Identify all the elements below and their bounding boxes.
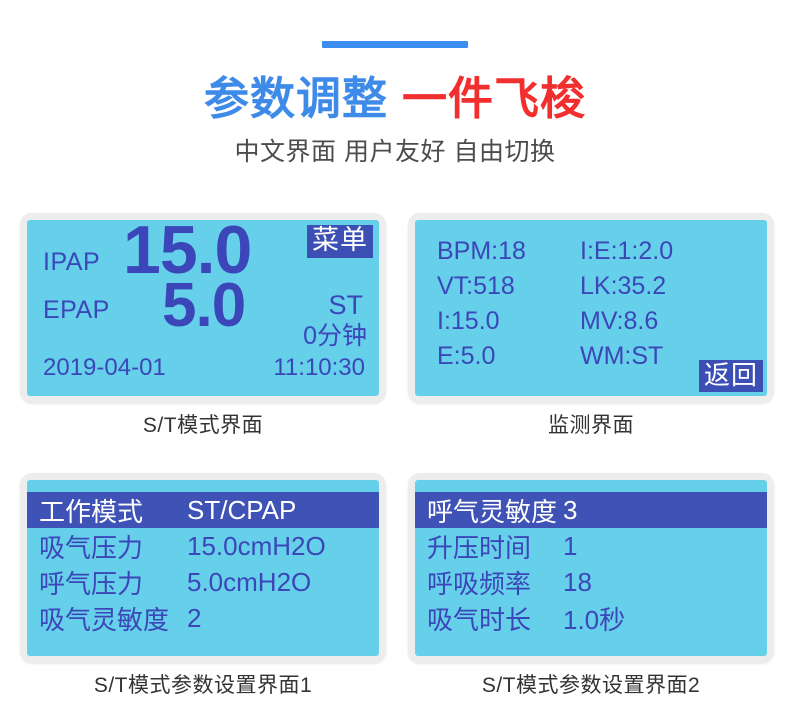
page-header: 参数调整一件飞梭 中文界面 用户友好 自由切换 xyxy=(0,0,790,165)
settings-value: 2 xyxy=(187,603,379,634)
epap-value: 5.0 xyxy=(162,275,245,337)
page-title-primary: 参数调整 xyxy=(204,73,388,124)
settings-value: 5.0cmH2O xyxy=(187,567,379,598)
lcd-screen-st-mode-home: IPAP 15.0 EPAP 5.0 菜单 ST 0分钟 2019-04-01 … xyxy=(27,220,379,396)
settings-value: 18 xyxy=(563,567,767,598)
settings-label: 呼气灵敏度 xyxy=(427,492,563,529)
back-button[interactable]: 返回 xyxy=(699,360,763,392)
settings-row[interactable]: 吸气时长 1.0秒 xyxy=(415,600,767,636)
epap-label: EPAP xyxy=(43,296,110,325)
settings-label: 吸气压力 xyxy=(39,528,187,565)
settings-label: 呼气压力 xyxy=(39,564,187,601)
panel-st-mode-home: IPAP 15.0 EPAP 5.0 菜单 ST 0分钟 2019-04-01 … xyxy=(20,213,386,436)
panel-caption: 监测界面 xyxy=(408,415,774,436)
readout-vt: VT:518 xyxy=(437,271,580,301)
settings-row[interactable]: 吸气压力 15.0cmH2O xyxy=(27,528,379,564)
settings-label: 呼吸频率 xyxy=(427,564,563,601)
panel-caption: S/T模式界面 xyxy=(20,415,386,436)
settings-value: 1.0秒 xyxy=(563,600,767,637)
lcd-bezel: 工作模式 ST/CPAP 吸气压力 15.0cmH2O 呼气压力 5.0cmH2… xyxy=(20,473,386,663)
menu-button[interactable]: 菜单 xyxy=(307,225,373,258)
panel-caption: S/T模式参数设置界面1 xyxy=(20,675,386,696)
settings-list: 呼气灵敏度 3 升压时间 1 呼吸频率 18 吸气时长 1.0秒 xyxy=(415,492,767,636)
lcd-screen-monitoring: BPM:18 I:E:1:2.0 VT:518 LK:35.2 I:15.0 M… xyxy=(415,220,767,396)
time-value: 11:10:30 xyxy=(273,356,365,380)
page-title-secondary: 一件飞梭 xyxy=(402,73,586,124)
screen-gallery: IPAP 15.0 EPAP 5.0 菜单 ST 0分钟 2019-04-01 … xyxy=(20,213,774,696)
monitoring-readout-grid: BPM:18 I:E:1:2.0 VT:518 LK:35.2 I:15.0 M… xyxy=(437,236,757,371)
page-subtitle: 中文界面 用户友好 自由切换 xyxy=(0,140,790,165)
settings-value: ST/CPAP xyxy=(187,495,379,526)
lcd-bezel: BPM:18 I:E:1:2.0 VT:518 LK:35.2 I:15.0 M… xyxy=(408,213,774,403)
lcd-screen-st-settings-2: 呼气灵敏度 3 升压时间 1 呼吸频率 18 吸气时长 1.0秒 xyxy=(415,480,767,656)
readout-ie: I:E:1:2.0 xyxy=(580,236,757,266)
settings-label: 升压时间 xyxy=(427,528,563,565)
lcd-screen-st-settings-1: 工作模式 ST/CPAP 吸气压力 15.0cmH2O 呼气压力 5.0cmH2… xyxy=(27,480,379,656)
panel-monitoring: BPM:18 I:E:1:2.0 VT:518 LK:35.2 I:15.0 M… xyxy=(408,213,774,436)
settings-list: 工作模式 ST/CPAP 吸气压力 15.0cmH2O 呼气压力 5.0cmH2… xyxy=(27,492,379,636)
settings-row[interactable]: 工作模式 ST/CPAP xyxy=(27,492,379,528)
timer-value: 0分钟 xyxy=(303,324,367,349)
settings-label: 吸气时长 xyxy=(427,600,563,637)
settings-row[interactable]: 呼吸频率 18 xyxy=(415,564,767,600)
settings-row[interactable]: 升压时间 1 xyxy=(415,528,767,564)
settings-row[interactable]: 呼气压力 5.0cmH2O xyxy=(27,564,379,600)
mode-indicator: ST xyxy=(328,292,363,319)
readout-e: E:5.0 xyxy=(437,341,580,371)
ipap-label: IPAP xyxy=(43,248,100,277)
panel-st-settings-1: 工作模式 ST/CPAP 吸气压力 15.0cmH2O 呼气压力 5.0cmH2… xyxy=(20,473,386,696)
readout-lk: LK:35.2 xyxy=(580,271,757,301)
settings-value: 1 xyxy=(563,531,767,562)
settings-label: 吸气灵敏度 xyxy=(39,600,187,637)
panel-st-settings-2: 呼气灵敏度 3 升压时间 1 呼吸频率 18 吸气时长 1.0秒 xyxy=(408,473,774,696)
settings-value: 3 xyxy=(563,495,767,526)
lcd-bezel: IPAP 15.0 EPAP 5.0 菜单 ST 0分钟 2019-04-01 … xyxy=(20,213,386,403)
lcd-bezel: 呼气灵敏度 3 升压时间 1 呼吸频率 18 吸气时长 1.0秒 xyxy=(408,473,774,663)
settings-label: 工作模式 xyxy=(39,492,187,529)
settings-row[interactable]: 呼气灵敏度 3 xyxy=(415,492,767,528)
page-title: 参数调整一件飞梭 xyxy=(0,76,790,121)
accent-divider-bar xyxy=(322,41,468,48)
readout-mv: MV:8.6 xyxy=(580,306,757,336)
settings-value: 15.0cmH2O xyxy=(187,531,379,562)
settings-row[interactable]: 吸气灵敏度 2 xyxy=(27,600,379,636)
date-value: 2019-04-01 xyxy=(43,356,166,380)
readout-i: I:15.0 xyxy=(437,306,580,336)
panel-caption: S/T模式参数设置界面2 xyxy=(408,675,774,696)
readout-bpm: BPM:18 xyxy=(437,236,580,266)
